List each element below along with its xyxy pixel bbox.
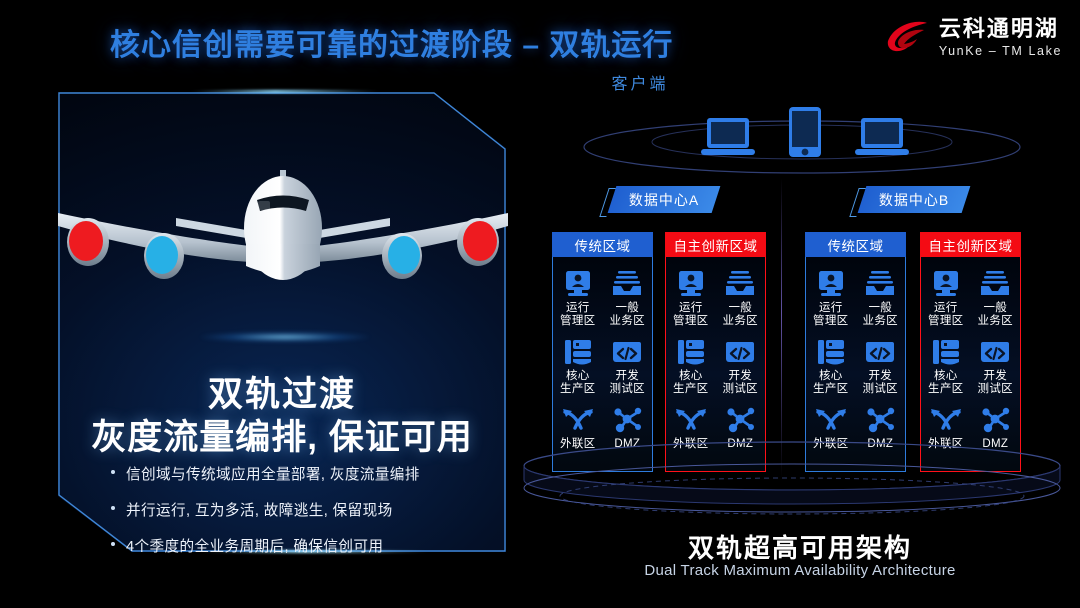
user-monitor-icon xyxy=(563,269,593,299)
code-window-icon xyxy=(725,337,755,367)
laptop-icon[interactable] xyxy=(700,116,756,158)
zone-column-innovation-b[interactable]: 自主创新区域 运行 管理区 一般 业务区 核心 生产区 开发 测试区 外联区 D… xyxy=(920,232,1021,472)
architecture-base-platform xyxy=(520,438,1065,530)
zone-column-traditional-b[interactable]: 传统区域 运行 管理区 一般 业务区 核心 生产区 开发 测试区 外联区 DMZ xyxy=(805,232,906,472)
zone-header: 传统区域 xyxy=(805,232,906,257)
zone-item-inbox-layers[interactable]: 一般 业务区 xyxy=(856,267,906,335)
network-nodes-icon xyxy=(725,405,755,435)
zone-item-server-rack[interactable]: 核心 生产区 xyxy=(553,335,603,403)
architecture-caption-en: Dual Track Maximum Availability Architec… xyxy=(520,562,1080,579)
zone-item-label: 开发 测试区 xyxy=(610,370,645,396)
zone-item-inbox-layers[interactable]: 一般 业务区 xyxy=(603,267,653,335)
code-window-icon xyxy=(865,337,895,367)
zone-item-server-rack[interactable]: 核心 生产区 xyxy=(666,335,716,403)
left-bullet-list: 信创域与传统域应用全量部署, 灰度流量编排 并行运行, 互为多活, 故障逃生, … xyxy=(110,463,500,571)
zone-item-label: 一般 业务区 xyxy=(610,302,645,328)
inbox-layers-icon xyxy=(612,269,642,299)
zone-item-code-window[interactable]: 开发 测试区 xyxy=(603,335,653,403)
crossing-arrows-icon xyxy=(815,405,847,435)
zone-item-label: 运行 管理区 xyxy=(673,302,708,328)
zone-item-code-window[interactable]: 开发 测试区 xyxy=(716,335,766,403)
zone-item-user-monitor[interactable]: 运行 管理区 xyxy=(806,267,856,335)
code-window-icon xyxy=(612,337,642,367)
plane-glow xyxy=(200,332,370,342)
zone-item-user-monitor[interactable]: 运行 管理区 xyxy=(553,267,603,335)
client-devices xyxy=(700,106,910,158)
zone-item-label: 运行 管理区 xyxy=(560,302,595,328)
zone-item-code-window[interactable]: 开发 测试区 xyxy=(856,335,906,403)
clients-label: 客户端 xyxy=(0,70,1080,94)
zone-item-label: 核心 生产区 xyxy=(560,370,595,396)
zone-item-label: 核心 生产区 xyxy=(928,370,963,396)
zone-item-label: 核心 生产区 xyxy=(813,370,848,396)
crossing-arrows-icon xyxy=(562,405,594,435)
inbox-layers-icon xyxy=(865,269,895,299)
zone-item-label: 一般 业务区 xyxy=(978,302,1013,328)
datacenter-badge-b-label: 数据中心B xyxy=(879,190,949,210)
architecture-caption-cn: 双轨超高可用架构 xyxy=(520,528,1080,565)
airplane-illustration xyxy=(58,170,508,345)
network-nodes-icon xyxy=(865,405,895,435)
zone-column-innovation-a[interactable]: 自主创新区域 运行 管理区 一般 业务区 核心 生产区 开发 测试区 外联区 D… xyxy=(665,232,766,472)
clients-label-text: 客户端 xyxy=(611,76,668,93)
zone-item-inbox-layers[interactable]: 一般 业务区 xyxy=(971,267,1021,335)
server-rack-icon xyxy=(816,337,846,367)
network-nodes-icon xyxy=(980,405,1010,435)
user-monitor-icon xyxy=(676,269,706,299)
zone-item-label: 一般 业务区 xyxy=(863,302,898,328)
zone-item-server-rack[interactable]: 核心 生产区 xyxy=(921,335,971,403)
zone-item-label: 开发 测试区 xyxy=(723,370,758,396)
user-monitor-icon xyxy=(931,269,961,299)
user-monitor-icon xyxy=(816,269,846,299)
zone-item-label: 核心 生产区 xyxy=(673,370,708,396)
zone-item-inbox-layers[interactable]: 一般 业务区 xyxy=(716,267,766,335)
zone-item-server-rack[interactable]: 核心 生产区 xyxy=(806,335,856,403)
datacenter-badge-a[interactable]: 数据中心A xyxy=(608,186,721,213)
list-item: 4个季度的全业务周期后, 确保信创可用 xyxy=(110,535,500,556)
zone-header: 自主创新区域 xyxy=(920,232,1021,257)
red-swoosh-logo-icon xyxy=(886,18,930,58)
network-nodes-icon xyxy=(612,405,642,435)
inbox-layers-icon xyxy=(725,269,755,299)
server-rack-icon xyxy=(563,337,593,367)
zone-item-user-monitor[interactable]: 运行 管理区 xyxy=(921,267,971,335)
laptop-icon[interactable] xyxy=(854,116,910,158)
tablet-icon[interactable] xyxy=(788,106,822,158)
zone-column-traditional-a[interactable]: 传统区域 运行 管理区 一般 业务区 核心 生产区 开发 测试区 外联区 DMZ xyxy=(552,232,653,472)
server-rack-icon xyxy=(676,337,706,367)
list-item: 并行运行, 互为多活, 故障逃生, 保留现场 xyxy=(110,499,500,520)
logo-en-text: YunKe – TM Lake xyxy=(939,45,1062,58)
code-window-icon xyxy=(980,337,1010,367)
inbox-layers-icon xyxy=(980,269,1010,299)
zone-item-label: 运行 管理区 xyxy=(813,302,848,328)
datacenter-divider xyxy=(781,178,782,478)
zone-item-label: 运行 管理区 xyxy=(928,302,963,328)
logo-cn-text: 云科通明湖 xyxy=(939,18,1062,40)
brand-logo: 云科通明湖 YunKe – TM Lake xyxy=(886,18,1062,58)
datacenter-badge-a-label: 数据中心A xyxy=(629,190,699,210)
zone-item-label: 开发 测试区 xyxy=(863,370,898,396)
zone-item-code-window[interactable]: 开发 测试区 xyxy=(971,335,1021,403)
zone-item-label: 开发 测试区 xyxy=(978,370,1013,396)
server-rack-icon xyxy=(931,337,961,367)
left-heading-secondary: 灰度流量编排, 保证可用 xyxy=(58,409,506,460)
zone-item-label: 一般 业务区 xyxy=(723,302,758,328)
page-title: 核心信创需要可靠的过渡阶段 – 双轨运行 xyxy=(110,20,673,64)
zone-header: 自主创新区域 xyxy=(665,232,766,257)
list-item: 信创域与传统域应用全量部署, 灰度流量编排 xyxy=(110,463,500,484)
slide-root: 核心信创需要可靠的过渡阶段 – 双轨运行 云科通明湖 YunKe – TM La… xyxy=(0,0,1080,608)
zone-header: 传统区域 xyxy=(552,232,653,257)
crossing-arrows-icon xyxy=(675,405,707,435)
datacenter-badge-b[interactable]: 数据中心B xyxy=(858,186,971,213)
crossing-arrows-icon xyxy=(930,405,962,435)
zone-item-user-monitor[interactable]: 运行 管理区 xyxy=(666,267,716,335)
